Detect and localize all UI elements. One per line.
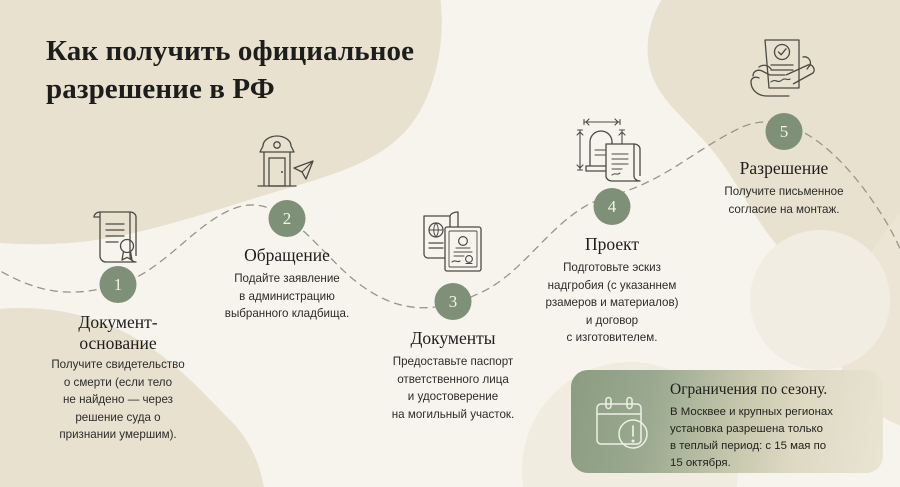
step-2-description: Подайте заявление в администрацию выбран… <box>180 270 395 323</box>
season-restriction-callout: Ограничения по сезону. В Москвее и крупн… <box>571 370 883 473</box>
blob-bottom-circle-2 <box>750 230 890 370</box>
hand-stamp-approval-icon <box>745 32 823 102</box>
certificate-scroll-icon <box>90 206 146 268</box>
step-1-description: Получите свидетельство о смерти (если те… <box>11 356 226 444</box>
step-1-badge: 1 <box>100 266 137 303</box>
step-4-badge: 4 <box>594 188 631 225</box>
step-3-description: Предоставьте паспорт ответственного лица… <box>346 353 561 423</box>
step-2-badge: 2 <box>269 200 306 237</box>
building-entrance-icon <box>256 134 318 192</box>
step-5-badge: 5 <box>766 113 803 150</box>
step-5-description: Получите письменное согласие на монтаж. <box>677 183 892 218</box>
step-4-description: Подготовьте эскиз надгробия (с указаннем… <box>505 259 720 347</box>
page-title-line-2: разрешение в РФ <box>46 70 476 108</box>
infographic-canvas: Как получить официальное разрешение в РФ… <box>0 0 900 487</box>
passport-id-icon <box>418 210 488 274</box>
step-5-title: Разрешение <box>684 158 884 179</box>
calendar-alert-icon <box>593 396 651 452</box>
page-title-line-1: Как получить официальное <box>46 32 476 70</box>
gravestone-blueprint-icon <box>576 114 648 188</box>
step-2-title: Обращение <box>187 245 387 266</box>
page-title: Как получить официальное разрешение в РФ <box>46 32 476 109</box>
callout-title: Ограничения по сезону. <box>670 381 827 399</box>
step-3-badge: 3 <box>435 283 472 320</box>
callout-body: В Москвее и крупных регионах установка р… <box>670 404 870 472</box>
step-4-title: Проект <box>512 234 712 255</box>
